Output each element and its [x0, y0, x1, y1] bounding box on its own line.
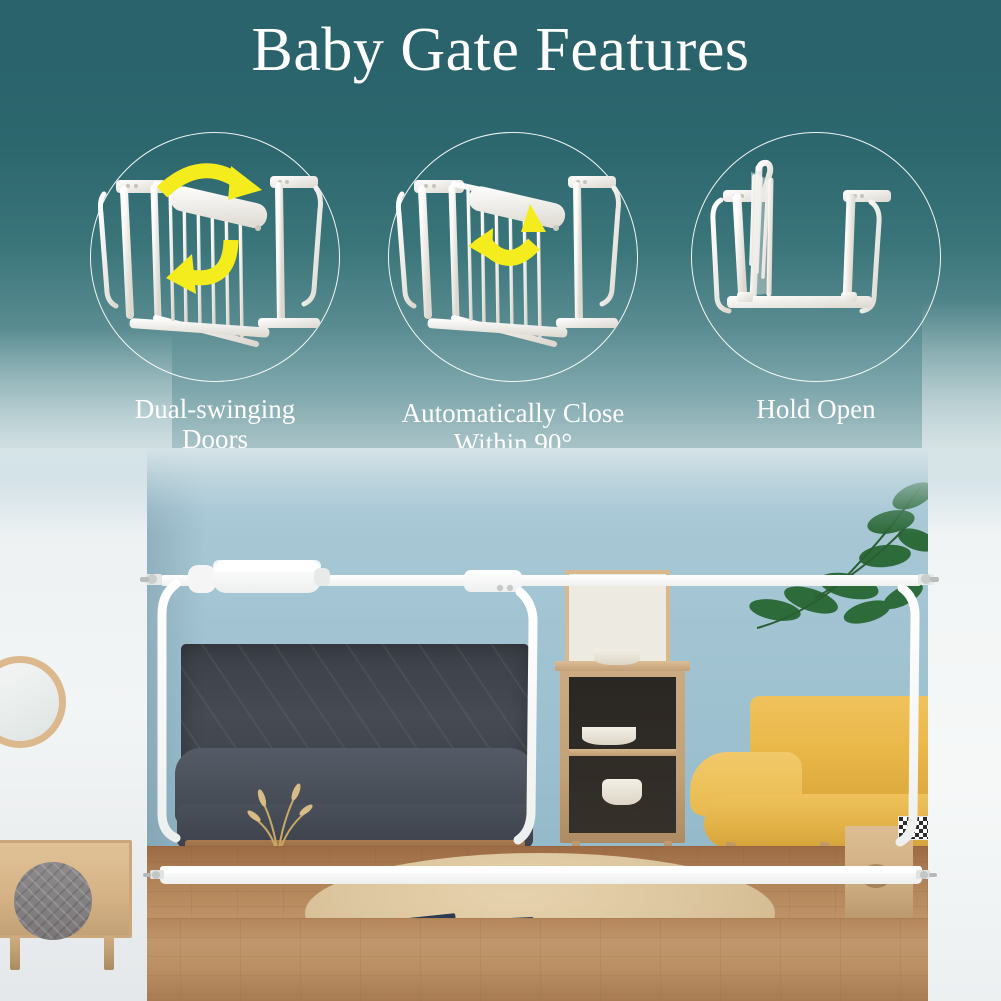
infographic-page: Baby Gate Features — [0, 0, 1001, 1001]
page-title: Baby Gate Features — [0, 14, 1001, 86]
feature-dual-swinging-doors: Dual-swinging Doors — [65, 132, 365, 462]
gate-latch-handle — [188, 560, 330, 593]
installed-baby-gate — [0, 448, 1001, 1001]
gate-dual-swing-icon — [90, 132, 340, 382]
gate-bottom-mount-right — [916, 870, 937, 879]
gate-auto-close-icon — [388, 132, 638, 382]
feature-label: Dual-swinging Doors — [65, 394, 365, 454]
gate-bars-right — [540, 588, 880, 874]
feature-list: Dual-swinging Doors — [0, 132, 1001, 462]
living-room-photo — [0, 448, 1001, 1001]
gate-mount-right — [918, 574, 939, 585]
gate-bars-left — [224, 586, 441, 868]
feature-icon-circle — [691, 132, 941, 382]
feature-hold-open: Hold Open — [666, 132, 966, 462]
gate-bottom-mount-left — [143, 870, 164, 879]
feature-label: Hold Open — [666, 394, 966, 424]
feature-automatically-close: Automatically Close Within 90° — [363, 132, 663, 462]
feature-icon-circle — [388, 132, 638, 382]
gate-hold-open-icon — [691, 132, 941, 382]
feature-icon-circle — [90, 132, 340, 382]
gate-mount-left — [140, 574, 162, 585]
